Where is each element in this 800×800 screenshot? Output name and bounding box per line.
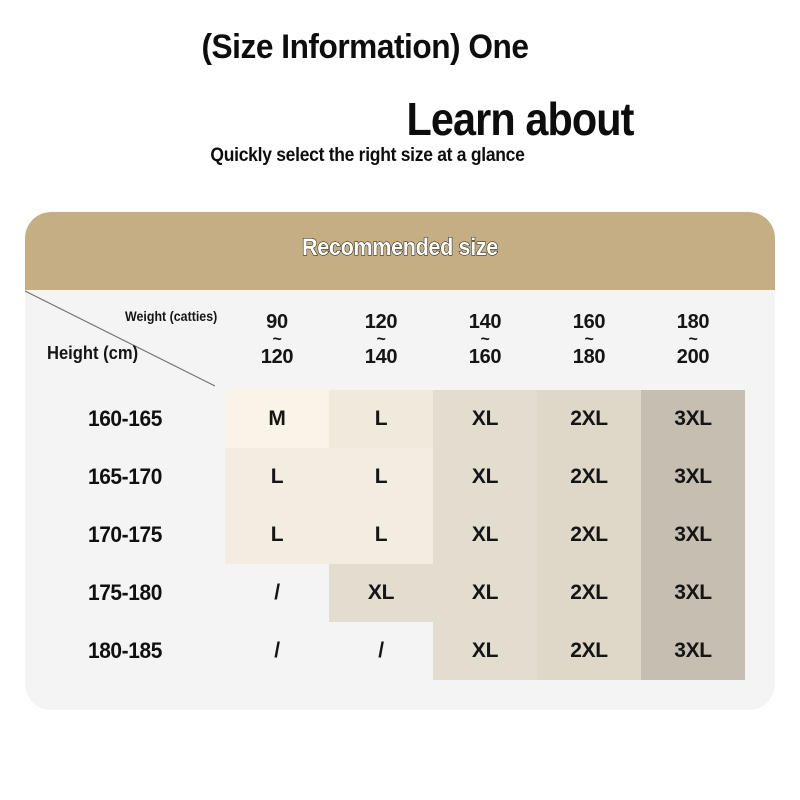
column-header-3-tilde: ~ [584, 333, 593, 347]
column-header-4-to: 200 [677, 347, 709, 369]
column-header-2-tilde: ~ [480, 333, 489, 347]
table-row: 170-175 L L XL 2XL 3XL [25, 506, 775, 564]
card-banner: Recommended size [25, 212, 775, 290]
row-header-3-label: 175-180 [88, 580, 162, 606]
table-header-row: Weight (catties) Height (cm) 90 ~ 120 12… [25, 290, 775, 390]
cell-2-4: 3XL [641, 506, 745, 564]
cell-4-4: 3XL [641, 622, 745, 680]
cell-4-1: / [329, 622, 433, 680]
cell-0-1: L [329, 390, 433, 448]
column-header-2: 140 ~ 160 [433, 290, 537, 390]
column-header-1: 120 ~ 140 [329, 290, 433, 390]
cell-2-3: 2XL [537, 506, 641, 564]
cell-3-3: 2XL [537, 564, 641, 622]
cell-0-0: M [225, 390, 329, 448]
cell-4-2: XL [433, 622, 537, 680]
column-header-0-tilde: ~ [272, 333, 281, 347]
size-table: Weight (catties) Height (cm) 90 ~ 120 12… [25, 290, 775, 710]
cell-2-2: XL [433, 506, 537, 564]
row-header-2: 170-175 [25, 506, 225, 564]
row-header-2-label: 170-175 [88, 522, 162, 548]
column-header-0: 90 ~ 120 [225, 290, 329, 390]
table-row: 180-185 / / XL 2XL 3XL [25, 622, 775, 680]
table-row: 175-180 / XL XL 2XL 3XL [25, 564, 775, 622]
cell-2-0: L [225, 506, 329, 564]
row-header-3: 175-180 [25, 564, 225, 622]
cell-3-2: XL [433, 564, 537, 622]
column-header-4: 180 ~ 200 [641, 290, 745, 390]
cell-0-3: 2XL [537, 390, 641, 448]
row-header-4: 180-185 [25, 622, 225, 680]
column-header-3-from: 160 [573, 312, 605, 334]
row-header-1: 165-170 [25, 448, 225, 506]
axis-corner-cell: Weight (catties) Height (cm) [25, 290, 225, 390]
row-header-0-label: 160-165 [88, 406, 162, 432]
diagonal-divider-icon [25, 290, 225, 390]
cell-1-0: L [225, 448, 329, 506]
row-header-1-label: 165-170 [88, 464, 162, 490]
cell-4-3: 2XL [537, 622, 641, 680]
column-header-2-from: 140 [469, 312, 501, 334]
column-header-1-tilde: ~ [376, 333, 385, 347]
column-header-0-from: 90 [266, 312, 288, 334]
size-chart-card: Recommended size Weight (catties) Height… [25, 212, 775, 710]
cell-3-0: / [225, 564, 329, 622]
column-header-1-from: 120 [365, 312, 397, 334]
cell-0-4: 3XL [641, 390, 745, 448]
cell-1-2: XL [433, 448, 537, 506]
column-axis-label: Weight (catties) [125, 309, 217, 324]
row-header-4-label: 180-185 [88, 638, 162, 664]
page-title: (Size Information) One [26, 28, 705, 67]
table-row: 160-165 M L XL 2XL 3XL [25, 390, 775, 448]
cell-4-0: / [225, 622, 329, 680]
cell-1-4: 3XL [641, 448, 745, 506]
page-subtitle: Learn about [52, 92, 800, 146]
column-header-4-tilde: ~ [688, 333, 697, 347]
column-header-3: 160 ~ 180 [537, 290, 641, 390]
column-header-3-to: 180 [573, 347, 605, 369]
column-header-0-to: 120 [261, 347, 293, 369]
column-header-2-to: 160 [469, 347, 501, 369]
banner-title: Recommended size [63, 234, 738, 262]
cell-1-1: L [329, 448, 433, 506]
cell-3-1: XL [329, 564, 433, 622]
table-row: 165-170 L L XL 2XL 3XL [25, 448, 775, 506]
column-header-1-to: 140 [365, 347, 397, 369]
cell-1-3: 2XL [537, 448, 641, 506]
page-tagline: Quickly select the right size at a glanc… [29, 145, 705, 167]
row-axis-label: Height (cm) [47, 343, 138, 364]
cell-3-4: 3XL [641, 564, 745, 622]
row-header-0: 160-165 [25, 390, 225, 448]
cell-0-2: XL [433, 390, 537, 448]
column-header-4-from: 180 [677, 312, 709, 334]
page-title-block: (Size Information) One Learn about Quick… [0, 0, 800, 200]
cell-2-1: L [329, 506, 433, 564]
